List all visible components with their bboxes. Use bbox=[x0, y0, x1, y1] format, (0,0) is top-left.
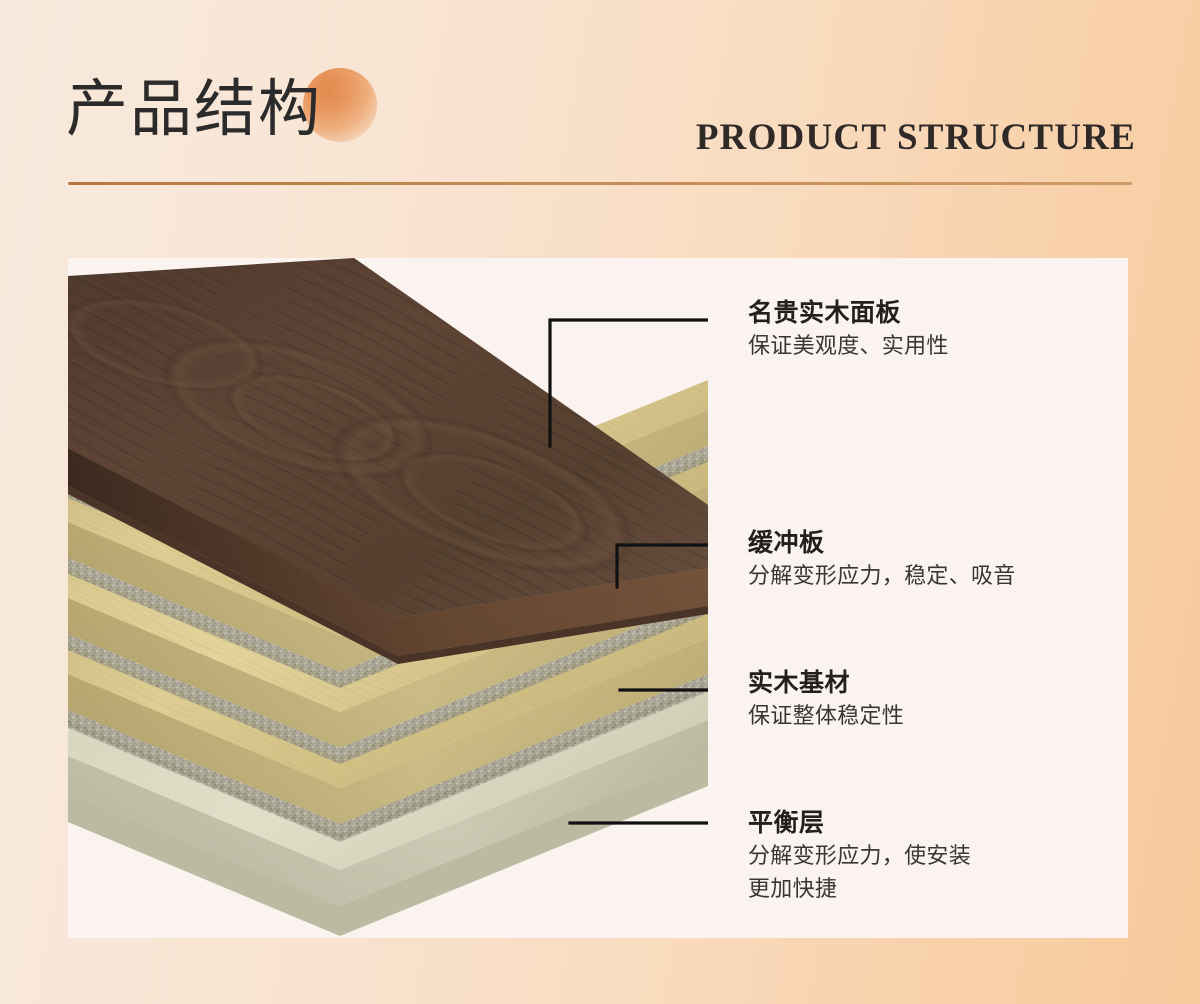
callout-desc: 保证美观度、实用性 bbox=[748, 330, 949, 363]
callout-desc: 保证整体稳定性 bbox=[748, 700, 904, 733]
page-title-chinese: 产品结构 bbox=[66, 72, 322, 146]
callout-desc: 分解变形应力，使安装 bbox=[748, 840, 971, 873]
page-title-english: PRODUCT STRUCTURE bbox=[696, 116, 1136, 160]
callout-title: 平衡层 bbox=[748, 806, 971, 840]
product-image-panel: 名贵实木面板 保证美观度、实用性 缓冲板 分解变形应力，稳定、吸音 实木基材 保… bbox=[68, 258, 1128, 938]
exploded-plywood-illustration bbox=[68, 258, 708, 938]
callout-solid-core: 实木基材 保证整体稳定性 bbox=[748, 666, 904, 733]
callout-buffer-board: 缓冲板 分解变形应力，稳定、吸音 bbox=[748, 526, 1016, 593]
callout-desc: 分解变形应力，稳定、吸音 bbox=[748, 560, 1016, 593]
callout-title: 缓冲板 bbox=[748, 526, 1016, 560]
page-header: 产品结构 PRODUCT STRUCTURE bbox=[0, 0, 1200, 200]
callout-balance-layer: 平衡层 分解变形应力，使安装 更加快捷 bbox=[748, 806, 971, 906]
callout-title: 实木基材 bbox=[748, 666, 904, 700]
callout-title: 名贵实木面板 bbox=[748, 296, 949, 330]
header-divider bbox=[68, 182, 1132, 185]
product-structure-page: 产品结构 PRODUCT STRUCTURE bbox=[0, 0, 1200, 1004]
callout-desc-line2: 更加快捷 bbox=[748, 873, 971, 906]
callout-top-veneer: 名贵实木面板 保证美观度、实用性 bbox=[748, 296, 949, 363]
